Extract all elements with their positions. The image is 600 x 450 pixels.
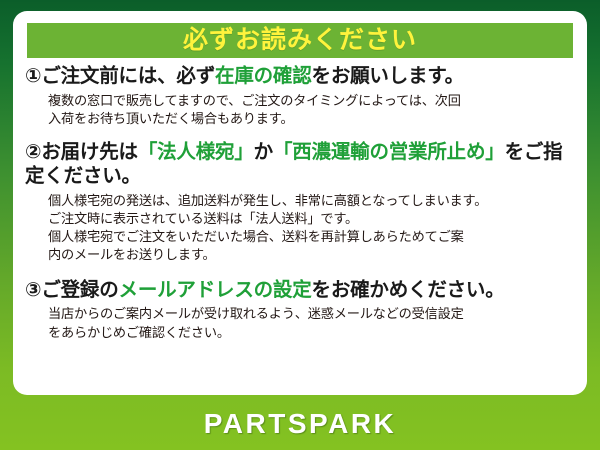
notice-item-2-body-line-2: ご注文時に表示されている送料は「法人送料」です。 bbox=[48, 210, 577, 228]
notice-item-1-heading: ①ご注文前には、必ず在庫の確認をお願いします。 bbox=[25, 65, 577, 89]
notice-item-1-head-part-3: をお願いします。 bbox=[312, 65, 464, 87]
notice-item-2-number: ② bbox=[25, 141, 41, 163]
notice-panel: 必ずお読みください ①ご注文前には、必ず在庫の確認をお願いします。 複数の窓口で… bbox=[13, 11, 587, 395]
notice-item-list: ①ご注文前には、必ず在庫の確認をお願いします。 複数の窓口で販売してますので、ご… bbox=[13, 63, 587, 342]
notice-item-1-body-line-1: 複数の窓口で販売してますので、ご注文のタイミングによっては、次回 bbox=[48, 92, 577, 110]
title-bar: 必ずお読みください bbox=[27, 23, 573, 58]
brand-logo-text: PARTSPARK bbox=[204, 408, 397, 440]
notice-item-3-head-highlight: メールアドレスの設定 bbox=[119, 279, 312, 301]
notice-item-3-heading: ③ご登録のメールアドレスの設定をお確かめください。 bbox=[25, 279, 577, 303]
notice-item-2-body: 個人様宅宛の発送は、追加送料が発生し、非常に高額となってしまいます。 ご注文時に… bbox=[25, 192, 577, 265]
notice-item-3-body: 当店からのご案内メールが受け取れるよう、迷惑メールなどの受信設定 をあらかじめご… bbox=[25, 305, 577, 341]
notice-item-2-head-highlight-2: 「西濃運輸の営業所止め」 bbox=[273, 141, 505, 163]
notice-item-3-body-line-1: 当店からのご案内メールが受け取れるよう、迷惑メールなどの受信設定 bbox=[48, 305, 577, 323]
notice-item-1-body-line-2: 入荷をお待ち頂いただく場合もあります。 bbox=[48, 110, 577, 128]
notice-item-3-head-part-3: をお確かめください。 bbox=[312, 279, 505, 301]
notice-item-3-body-line-2: をあらかじめご確認ください。 bbox=[48, 324, 577, 342]
notice-banner: 必ずお読みください ①ご注文前には、必ず在庫の確認をお願いします。 複数の窓口で… bbox=[0, 0, 600, 450]
notice-item-2-body-line-3: 個人様宅宛でご注文をいただいた場合、送料を再計算しあらためてご案 bbox=[48, 228, 577, 246]
notice-item-1: ①ご注文前には、必ず在庫の確認をお願いします。 複数の窓口で販売してますので、ご… bbox=[13, 65, 587, 128]
notice-item-2-head-part-1: お届け先は bbox=[41, 141, 138, 163]
notice-item-1-head-highlight: 在庫の確認 bbox=[215, 65, 312, 87]
footer-bar: PARTSPARK bbox=[0, 398, 600, 450]
notice-item-1-body: 複数の窓口で販売してますので、ご注文のタイミングによっては、次回 入荷をお待ち頂… bbox=[25, 92, 577, 128]
banner-title: 必ずお読みください bbox=[183, 28, 417, 53]
notice-item-1-head-part-1: ご注文前には、必ず bbox=[41, 65, 215, 87]
notice-item-3: ③ご登録のメールアドレスの設定をお確かめください。 当店からのご案内メールが受け… bbox=[13, 279, 587, 342]
notice-item-3-number: ③ bbox=[25, 279, 41, 301]
notice-item-2-heading: ②お届け先は「法人様宛」か「西濃運輸の営業所止め」をご指定ください。 bbox=[25, 141, 577, 189]
notice-item-1-number: ① bbox=[25, 65, 41, 87]
notice-item-3-head-part-1: ご登録の bbox=[41, 279, 118, 301]
notice-item-2-head-part-3: か bbox=[254, 141, 273, 163]
notice-item-2: ②お届け先は「法人様宛」か「西濃運輸の営業所止め」をご指定ください。 個人様宅宛… bbox=[13, 141, 587, 264]
notice-item-2-body-line-4: 内のメールをお送りします。 bbox=[48, 246, 577, 264]
notice-item-2-body-line-1: 個人様宅宛の発送は、追加送料が発生し、非常に高額となってしまいます。 bbox=[48, 192, 577, 210]
notice-item-2-head-highlight-1: 「法人様宛」 bbox=[138, 141, 254, 163]
